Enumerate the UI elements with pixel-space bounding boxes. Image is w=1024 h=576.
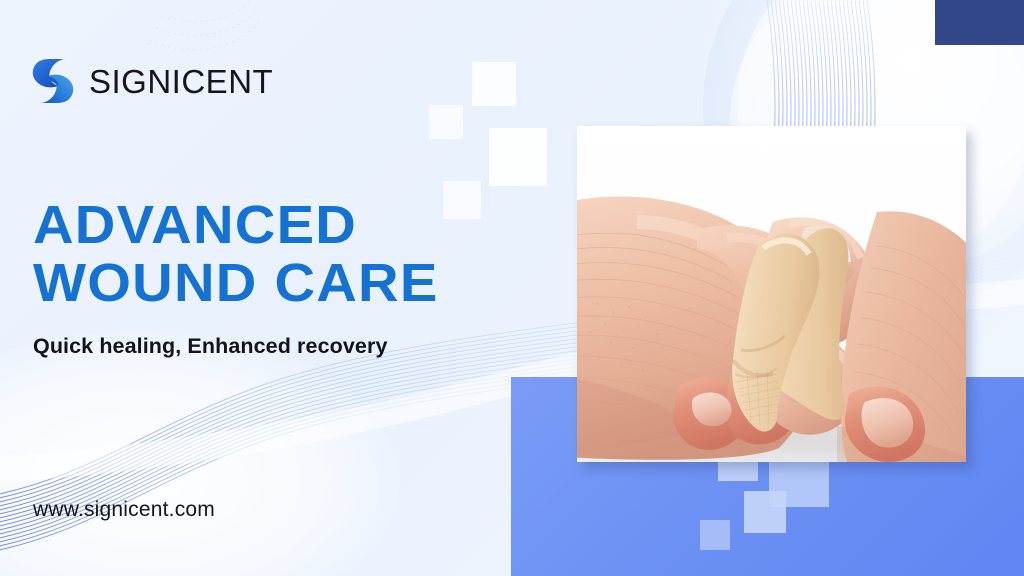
medical-cross-icon bbox=[489, 128, 547, 186]
bandage-on-finger-illustration bbox=[577, 126, 966, 462]
navy-accent-rectangle bbox=[935, 0, 1024, 45]
medical-cross-icon bbox=[472, 62, 516, 106]
slide-canvas: SIGNICENT ADVANCED WOUND CARE Quick heal… bbox=[0, 0, 1024, 576]
website-url[interactable]: www.signicent.com bbox=[33, 498, 215, 522]
medical-cross-icon bbox=[744, 491, 786, 533]
headline-line-1: ADVANCED bbox=[33, 196, 522, 254]
headline-block: ADVANCED WOUND CARE Quick healing, Enhan… bbox=[33, 196, 503, 359]
subtitle: Quick healing, Enhanced recovery bbox=[33, 334, 503, 359]
brand-name: SIGNICENT bbox=[89, 65, 273, 98]
brand-logo[interactable]: SIGNICENT bbox=[30, 57, 273, 105]
medical-cross-icon bbox=[700, 520, 730, 550]
medical-cross-icon bbox=[429, 105, 463, 139]
hero-photo bbox=[577, 126, 966, 462]
background-glow-bottom-left bbox=[0, 330, 400, 576]
headline-line-2: WOUND CARE bbox=[33, 254, 522, 312]
signicent-logo-icon bbox=[30, 57, 76, 105]
